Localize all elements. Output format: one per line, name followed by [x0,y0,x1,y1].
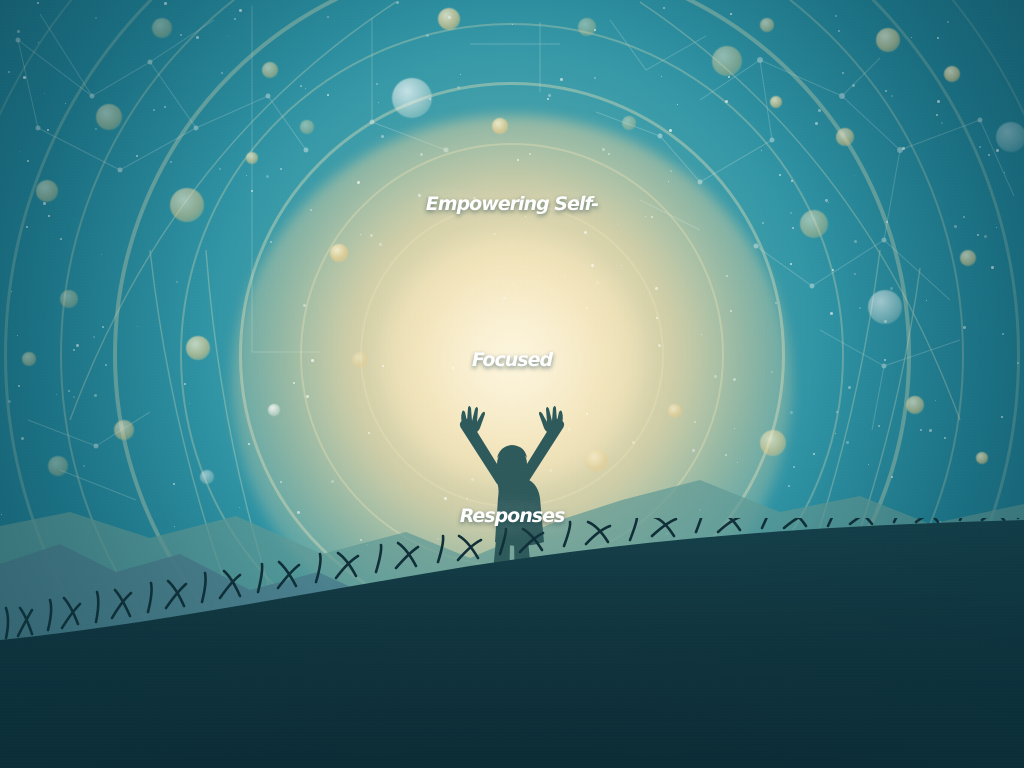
page-title: Empowering Self- Focused Responses [0,126,1024,594]
headline-line-3: Responses [18,438,1006,594]
headline-line-2: Focused [18,282,1006,438]
headline-line-1: Empowering Self- [18,126,1006,282]
title-slide: Empowering Self- Focused Responses [0,0,1024,768]
